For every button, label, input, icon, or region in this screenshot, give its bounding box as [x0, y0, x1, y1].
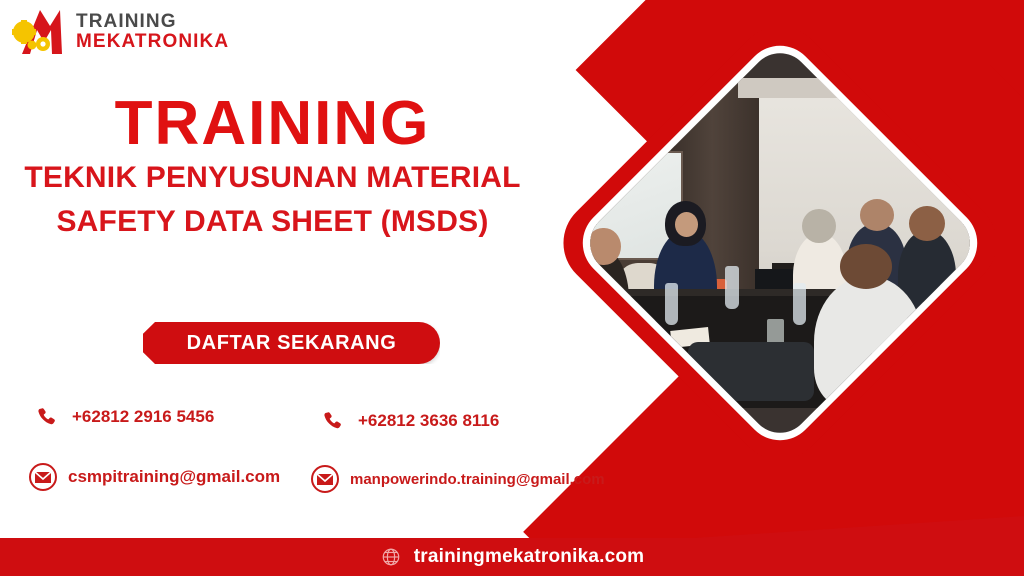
logo-line-1: TRAINING [76, 12, 229, 31]
contact-phone-2-value: +62812 3636 8116 [358, 411, 499, 431]
company-logo[interactable]: TRAINING MEKATRONIKA [10, 4, 260, 62]
contact-phone-2[interactable]: +62812 3636 8116 [318, 406, 499, 436]
footer-website[interactable]: trainingmekatronika.com [414, 546, 645, 568]
envelope-circle-icon [28, 462, 58, 492]
training-photo [578, 41, 982, 445]
contact-email-1[interactable]: csmpitraining@gmail.com [28, 462, 280, 492]
logo-line-2: MEKATRONIKA [76, 31, 229, 52]
subtitle-line-2: SAFETY DATA SHEET (MSDS) [0, 200, 545, 244]
photo-frame [545, 8, 1015, 478]
phone-icon [318, 406, 348, 436]
headline-block: TRAINING TEKNIK PENYUSUNAN MATERIAL SAFE… [0, 92, 545, 244]
logo-wordmark: TRAINING MEKATRONIKA [76, 12, 229, 52]
subtitle-line-1: TEKNIK PENYUSUNAN MATERIAL [0, 156, 545, 200]
page-title: TRAINING [0, 92, 545, 156]
contact-email-2-value: manpowerindo.training@gmail.com [350, 471, 605, 488]
contact-email-1-value: csmpitraining@gmail.com [68, 467, 280, 487]
gear-m-logo-icon [10, 4, 72, 58]
footer-bar: trainingmekatronika.com [0, 538, 1024, 576]
phone-icon [32, 402, 62, 432]
register-button[interactable]: DAFTAR SEKARANG [143, 322, 440, 364]
contact-phone-1-value: +62812 2916 5456 [72, 407, 214, 427]
contact-phone-1[interactable]: +62812 2916 5456 [32, 402, 214, 432]
envelope-circle-icon [310, 464, 340, 494]
globe-icon [380, 546, 402, 568]
promo-banner: TRAINING MEKATRONIKA TRAINING TEKNIK PEN… [0, 0, 1024, 576]
contact-email-2[interactable]: manpowerindo.training@gmail.com [310, 464, 605, 494]
